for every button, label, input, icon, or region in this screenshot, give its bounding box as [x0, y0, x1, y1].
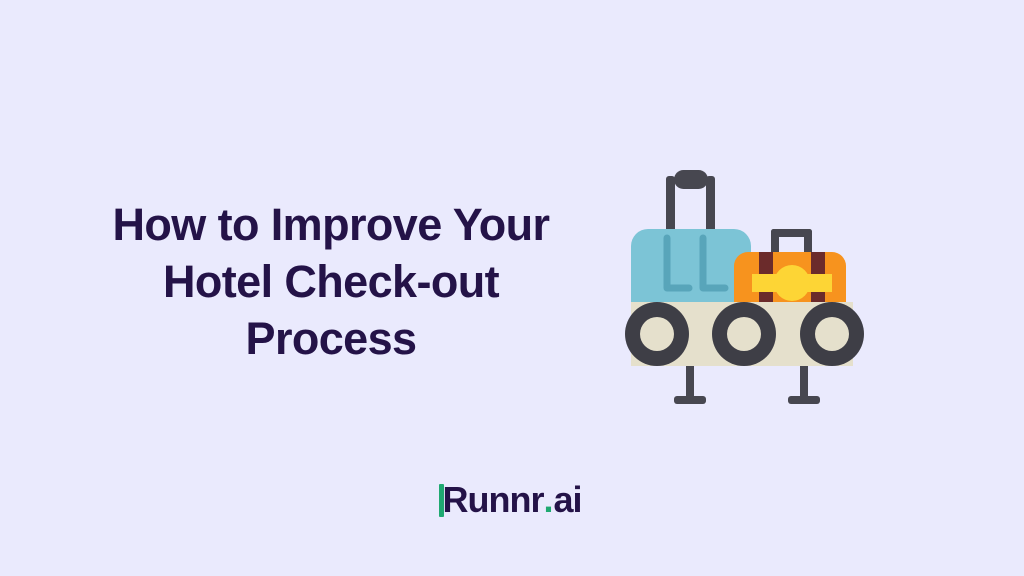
brand-logo: Runnr.ai [0, 478, 1024, 522]
heading-line-1: How to Improve Your [72, 196, 590, 253]
page-title: How to Improve Your Hotel Check-out Proc… [72, 196, 590, 367]
logo-tld: ai [553, 479, 581, 520]
baggage-conveyor-illustration [604, 150, 894, 420]
orange-suitcase [734, 252, 846, 309]
logo-accent-bar-icon [439, 484, 444, 517]
conveyor-roller-center [712, 302, 776, 366]
conveyor-roller-right [800, 302, 864, 366]
conveyor-leg-right [788, 366, 820, 404]
conveyor-roller-left [625, 302, 689, 366]
logo-brand-name: Runnr [442, 479, 543, 520]
heading-line-3: Process [72, 310, 590, 367]
blue-suitcase [631, 229, 751, 309]
conveyor-leg-left [674, 366, 706, 404]
heading-line-2: Hotel Check-out [72, 253, 590, 310]
slide-canvas: How to Improve Your Hotel Check-out Proc… [0, 0, 1024, 576]
logo-dot: . [543, 479, 553, 520]
